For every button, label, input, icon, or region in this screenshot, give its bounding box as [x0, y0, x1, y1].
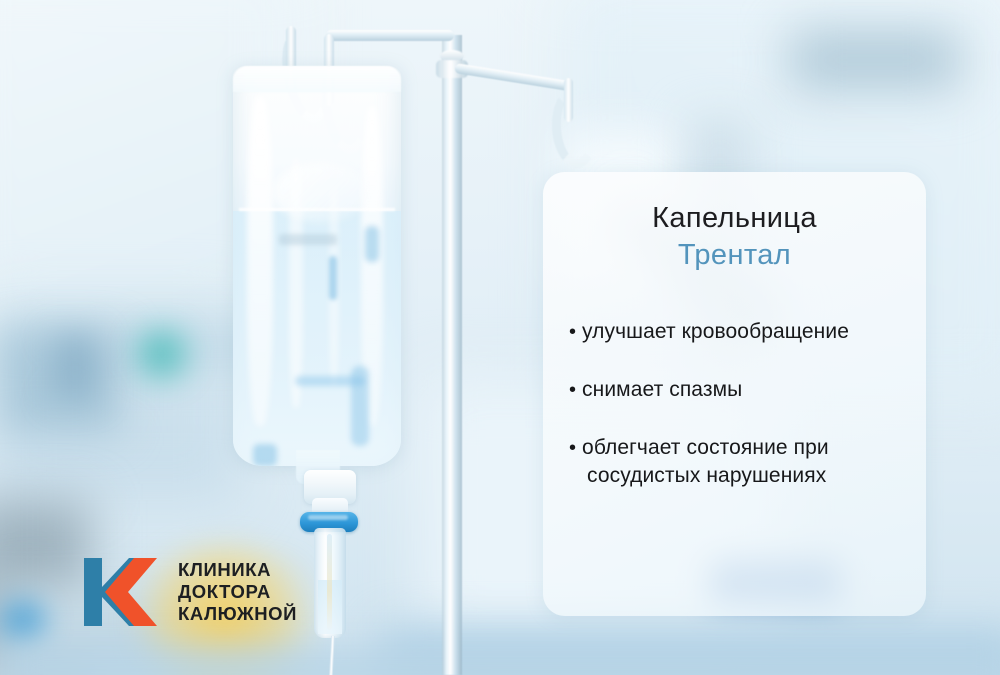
brand-line-3: КАЛЮЖНОЙ — [178, 603, 297, 625]
iv-stand-hook-right-stem — [564, 78, 573, 122]
iv-bag-label-print — [279, 234, 337, 245]
iv-drip-collar-highlight — [308, 515, 348, 520]
iv-bag-blue-tint-b — [365, 226, 379, 262]
iv-stand-pole — [442, 35, 462, 675]
iv-bag-top-seal — [233, 66, 401, 92]
iv-bag-highlight-left — [247, 96, 273, 426]
background-panel-dark — [55, 338, 95, 398]
list-item: • улучшает кровообращение — [569, 318, 900, 346]
benefits-list: • улучшает кровообращение • снимает спаз… — [569, 318, 900, 490]
background-bottom-edge — [0, 650, 1000, 675]
brand-logo[interactable]: КЛИНИКА ДОКТОРА КАЛЮЖНОЙ — [82, 554, 297, 630]
iv-drip-chamber — [314, 528, 346, 638]
list-item-label: облегчает состояние при сосудистых наруш… — [582, 436, 829, 487]
list-item-label: снимает спазмы — [582, 378, 742, 401]
drug-name: Трентал — [569, 238, 900, 273]
bullet-icon: • — [569, 379, 576, 401]
iv-bag-blue-tint-d — [295, 376, 365, 386]
iv-bag-fold — [273, 162, 369, 222]
list-item-label: улучшает кровообращение — [582, 320, 849, 343]
promo-banner: Капельница Трентал • улучшает кровообращ… — [0, 0, 1000, 675]
bullet-icon: • — [569, 437, 576, 459]
background-teal-object — [138, 330, 186, 378]
page-title: Капельница — [569, 202, 900, 234]
iv-drip-chamber-inner-tube — [327, 534, 332, 630]
background-blue-object — [0, 600, 46, 642]
brand-line-2: ДОКТОРА — [178, 581, 297, 603]
iv-bag-blue-tint-e — [253, 444, 277, 466]
kk-monogram-icon — [82, 554, 164, 630]
iv-bag-blue-tint-a — [329, 256, 337, 300]
background-upper-shadow — [790, 30, 960, 90]
list-item: • облегчает состояние при сосудистых нар… — [569, 434, 900, 490]
bullet-icon: • — [569, 321, 576, 343]
list-item: • снимает спазмы — [569, 376, 900, 404]
iv-fluid-bag — [233, 66, 401, 466]
brand-name: КЛИНИКА ДОКТОРА КАЛЮЖНОЙ — [178, 559, 297, 625]
iv-stand-arm-left — [326, 30, 454, 41]
brand-line-1: КЛИНИКА — [178, 559, 297, 581]
info-card: Капельница Трентал • улучшает кровообращ… — [543, 172, 926, 616]
